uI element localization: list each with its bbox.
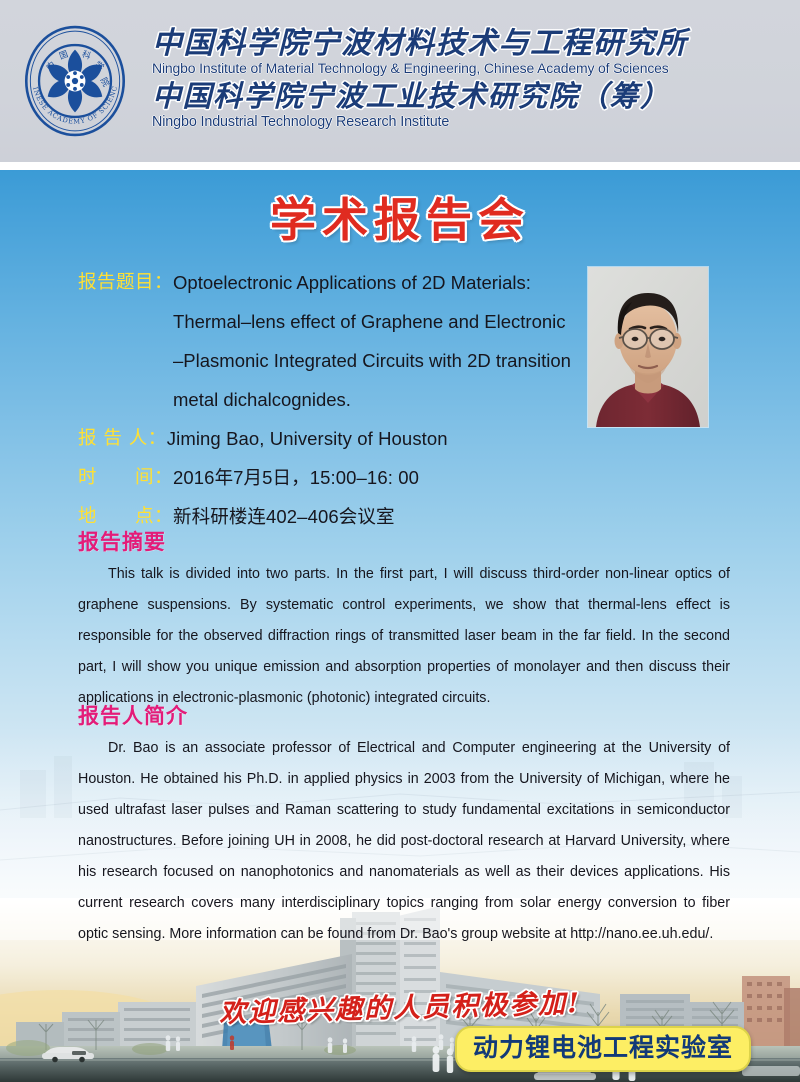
svg-text:国: 国 bbox=[58, 49, 70, 62]
time-label: 时 间： bbox=[78, 458, 173, 497]
lab-badge-label: 动力锂电池工程实验室 bbox=[473, 1033, 733, 1062]
seminar-info-block: 报告题目： Optoelectronic Applications of 2D … bbox=[78, 263, 598, 536]
time-value: 2016年7月5日，15:00–16: 00 bbox=[173, 458, 598, 497]
speaker-value: Jiming Bao, University of Houston bbox=[167, 419, 598, 458]
bio-body: Dr. Bao is an associate professor of Ele… bbox=[78, 740, 730, 942]
speaker-photo bbox=[588, 267, 708, 427]
info-row-topic: 报告题目： Optoelectronic Applications of 2D … bbox=[78, 263, 598, 419]
institute-name-en-2: Ningbo Industrial Technology Research In… bbox=[152, 114, 776, 130]
info-row-time: 时 间： 2016年7月5日，15:00–16: 00 bbox=[78, 458, 598, 497]
bio-text: Dr. Bao is an associate professor of Ele… bbox=[78, 733, 730, 950]
topic-line: metal dichalcognides. bbox=[173, 380, 571, 419]
institute-name-en-1: Ningbo Institute of Material Technology … bbox=[152, 61, 776, 77]
topic-line: –Plasmonic Integrated Circuits with 2D t… bbox=[173, 341, 571, 380]
institute-header: 中 国 科 学 院 CHINESE ACADEMY OF SCIENCES bbox=[0, 0, 800, 162]
abstract-text: This talk is divided into two parts. In … bbox=[78, 559, 730, 714]
topic-line: Thermal–lens effect of Graphene and Elec… bbox=[173, 302, 571, 341]
header-title-block: 中国科学院宁波材料技术与工程研究所 Ningbo Institute of Ma… bbox=[150, 6, 800, 156]
topic-label: 报告题目： bbox=[78, 263, 173, 302]
institute-name-cn-1: 中国科学院宁波材料技术与工程研究所 bbox=[152, 28, 786, 60]
lab-badge: 动力锂电池工程实验室 bbox=[455, 1026, 751, 1072]
header-divider bbox=[0, 162, 800, 170]
cas-logo-wrapper: 中 国 科 学 院 CHINESE ACADEMY OF SCIENCES bbox=[0, 0, 150, 162]
institute-name-cn-2: 中国科学院宁波工业技术研究院（筹） bbox=[152, 81, 786, 112]
topic-value: Optoelectronic Applications of 2D Materi… bbox=[173, 263, 571, 419]
bio-heading: 报告人简介 bbox=[78, 700, 188, 730]
info-row-speaker: 报 告 人： Jiming Bao, University of Houston bbox=[78, 419, 598, 458]
seminar-poster: 中 国 科 学 院 CHINESE ACADEMY OF SCIENCES bbox=[0, 0, 800, 1082]
speaker-label: 报 告 人： bbox=[78, 419, 167, 458]
place-value: 新科研楼连402–406会议室 bbox=[173, 497, 598, 536]
cas-logo-icon: 中 国 科 学 院 CHINESE ACADEMY OF SCIENCES bbox=[17, 23, 133, 139]
abstract-body: This talk is divided into two parts. In … bbox=[78, 566, 730, 706]
speaker-portrait-graphic bbox=[588, 267, 708, 427]
abstract-heading: 报告摘要 bbox=[78, 526, 166, 556]
topic-line: Optoelectronic Applications of 2D Materi… bbox=[173, 263, 571, 302]
page-title: 学术报告会 bbox=[0, 184, 800, 250]
